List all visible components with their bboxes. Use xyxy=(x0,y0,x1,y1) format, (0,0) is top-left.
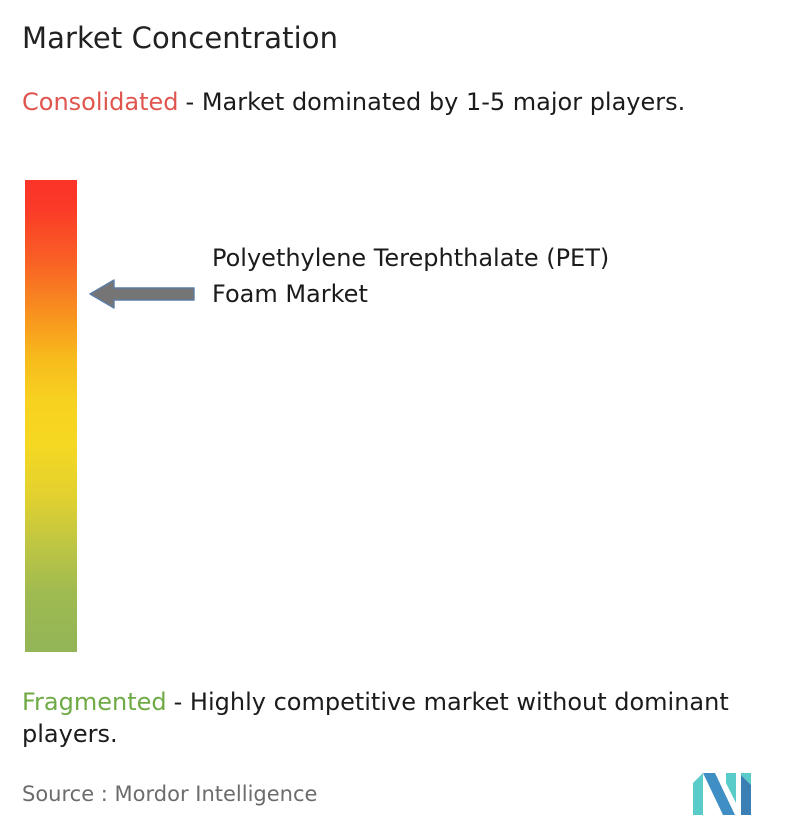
legend-consolidated: Consolidated- Market dominated by 1-5 ma… xyxy=(22,86,778,118)
legend-fragmented-keyword: Fragmented xyxy=(22,688,167,716)
market-concentration-infographic: Market Concentration Consolidated- Marke… xyxy=(0,0,796,834)
source-attribution: Source : Mordor Intelligence xyxy=(22,780,317,808)
concentration-scale-bar xyxy=(25,180,77,652)
mordor-intelligence-logo xyxy=(693,773,759,815)
market-pointer-label: Polyethylene Terephthalate (PET) Foam Ma… xyxy=(212,240,632,312)
legend-fragmented: Fragmented- Highly competitive market wi… xyxy=(22,686,786,750)
page-title: Market Concentration xyxy=(22,20,338,56)
legend-consolidated-description: - Market dominated by 1-5 major players. xyxy=(186,88,686,116)
left-arrow-icon xyxy=(88,274,196,314)
market-pointer: Polyethylene Terephthalate (PET) Foam Ma… xyxy=(88,240,632,314)
footer: Source : Mordor Intelligence xyxy=(0,775,796,825)
legend-consolidated-keyword: Consolidated xyxy=(22,88,179,116)
